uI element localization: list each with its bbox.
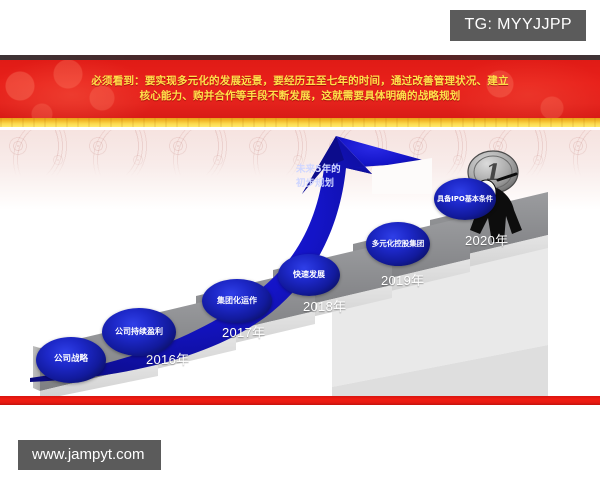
- step-bubble-label-3: 集团化运作: [217, 296, 257, 305]
- step-bubble-6[interactable]: 具备IPO基本条件: [434, 178, 496, 220]
- year-label-2017: 2017年: [222, 322, 265, 341]
- step-bubble-label-5: 多元化控股集团: [372, 240, 425, 249]
- url-watermark: www.jampyt.com: [18, 440, 161, 470]
- step-bubble-1[interactable]: 公司战略: [36, 337, 106, 383]
- bottom-red-rule: [0, 396, 600, 405]
- year-label-2019: 2019年: [381, 270, 424, 289]
- year-label-2020: 2020年: [465, 230, 508, 249]
- banner-text-line-2: 核心能力、购并合作等手段不断发展，这就需要具体明确的战略规划: [140, 89, 461, 104]
- banner-text-line-1: 必须看到：要实现多元化的发展远景，要经历五至七年的时间，通过改善管理状况、建立: [91, 74, 508, 89]
- step-bubble-label-6: 具备IPO基本条件: [437, 195, 493, 203]
- tg-tag: TG: MYYJJPP: [450, 10, 586, 41]
- step-bubble-label-2: 公司持续盈利: [115, 327, 163, 336]
- banner-text: 必须看到：要实现多元化的发展远景，要经历五至七年的时间，通过改善管理状况、建立 …: [0, 60, 600, 118]
- step-bubble-5[interactable]: 多元化控股集团: [366, 222, 430, 266]
- step-bubble-2[interactable]: 公司持续盈利: [102, 308, 176, 356]
- step-bubble-label-1: 公司战略: [54, 355, 88, 365]
- step-bubble-label-4: 快速发展: [293, 270, 325, 279]
- step-bubble-4[interactable]: 快速发展: [278, 254, 340, 296]
- step-bubble-3[interactable]: 集团化运作: [202, 279, 272, 323]
- slide-canvas: 必须看到：要实现多元化的发展远景，要经历五至七年的时间，通过改善管理状况、建立 …: [0, 0, 600, 480]
- headline-banner: 必须看到：要实现多元化的发展远景，要经历五至七年的时间，通过改善管理状况、建立 …: [0, 55, 600, 130]
- year-label-2018: 2018年: [303, 296, 346, 315]
- banner-gold-strip: [0, 118, 600, 127]
